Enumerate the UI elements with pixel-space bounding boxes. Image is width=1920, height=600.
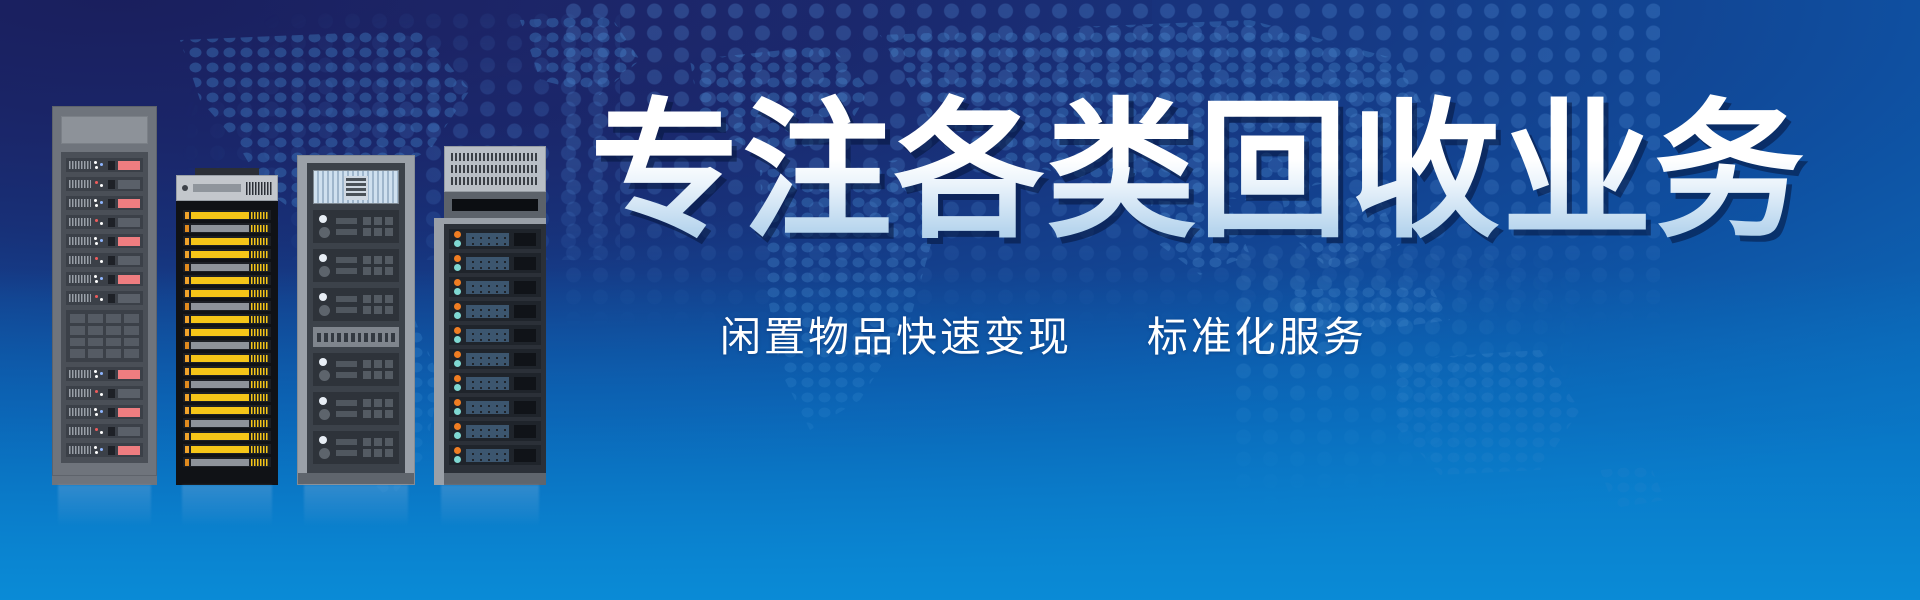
rack-unit xyxy=(66,158,143,172)
rack-unit xyxy=(66,272,143,286)
rack-blade xyxy=(183,353,271,363)
rack-reflection xyxy=(58,485,150,527)
rack-unit xyxy=(66,424,143,438)
rack-blade xyxy=(183,314,271,324)
rack-blade xyxy=(183,236,271,246)
server-rack-illustration xyxy=(52,155,546,485)
rack-blade xyxy=(183,262,271,272)
rack-blade xyxy=(183,405,271,415)
rack-reflection xyxy=(182,485,272,527)
server-rack-gray-red xyxy=(52,106,157,485)
banner-subtitle-part-1: 闲置物品快速变现 xyxy=(720,314,1072,360)
rack-unit xyxy=(66,177,143,191)
banner-headline: 专注各类回收业务 xyxy=(590,92,1870,251)
rack-server-module xyxy=(313,249,399,282)
rack-drive-bay xyxy=(449,445,541,465)
rack-base xyxy=(444,473,546,485)
rack-blade xyxy=(183,444,271,454)
server-rack-gray-modules xyxy=(297,155,415,485)
rack-drive-bay xyxy=(449,229,541,249)
rack-drive-bay xyxy=(449,277,541,297)
rack-drive-bay xyxy=(449,349,541,369)
rack-vent-panel xyxy=(313,170,399,204)
rack-unit xyxy=(66,253,143,267)
rack-server-module xyxy=(313,353,399,386)
rack-drive-bay xyxy=(449,325,541,345)
rack-blade xyxy=(183,301,271,311)
rack-base xyxy=(298,473,414,484)
rack-blade xyxy=(183,392,271,402)
rack-unit xyxy=(66,234,143,248)
rack-unit xyxy=(66,291,143,305)
rack-blade xyxy=(183,457,271,467)
rack-foot xyxy=(52,476,157,485)
rack-head-unit xyxy=(176,175,278,201)
rack-unit xyxy=(66,215,143,229)
rack-server-module xyxy=(313,288,399,321)
rack-blade xyxy=(183,210,271,220)
rack-port-row xyxy=(313,327,399,347)
rack-foot xyxy=(176,477,278,485)
rack-blade xyxy=(183,431,271,441)
rack-unit xyxy=(66,367,143,381)
rack-unit xyxy=(66,196,143,210)
rack-blade xyxy=(183,418,271,428)
server-rack-orange-teal xyxy=(434,146,546,485)
server-rack-black-yellow xyxy=(176,168,278,485)
banner-copy: 专注各类回收业务 闲置物品快速变现 标准化服务 xyxy=(590,92,1870,363)
rack-unit xyxy=(66,443,143,457)
rack-blade xyxy=(183,223,271,233)
rack-display-bar xyxy=(444,192,546,218)
rack-top-vents xyxy=(444,146,546,192)
rack-patch-panel xyxy=(66,310,143,362)
rack-blade xyxy=(183,275,271,285)
rack-drive-bay xyxy=(449,421,541,441)
rack-blade xyxy=(183,379,271,389)
rack-drive-bay xyxy=(449,253,541,273)
rack-blade xyxy=(183,249,271,259)
rack-blade xyxy=(183,340,271,350)
rack-reflection xyxy=(304,485,408,527)
rack-server-module xyxy=(313,392,399,425)
rack-server-module xyxy=(313,431,399,464)
rack-reflection xyxy=(441,485,540,527)
rack-cap xyxy=(195,168,258,175)
promo-banner: 专注各类回收业务 闲置物品快速变现 标准化服务 xyxy=(0,0,1920,600)
rack-top-panel xyxy=(61,116,148,144)
rack-blade xyxy=(183,288,271,298)
banner-subtitle: 闲置物品快速变现 标准化服务 xyxy=(720,303,1870,363)
rack-blade xyxy=(183,366,271,376)
rack-server-module xyxy=(313,210,399,243)
rack-unit xyxy=(66,405,143,419)
rack-drive-bay xyxy=(449,373,541,393)
banner-subtitle-part-2: 标准化服务 xyxy=(1147,314,1367,360)
rack-drive-bay xyxy=(449,397,541,417)
rack-blade xyxy=(183,327,271,337)
rack-drive-bay xyxy=(449,301,541,321)
rack-unit xyxy=(66,386,143,400)
